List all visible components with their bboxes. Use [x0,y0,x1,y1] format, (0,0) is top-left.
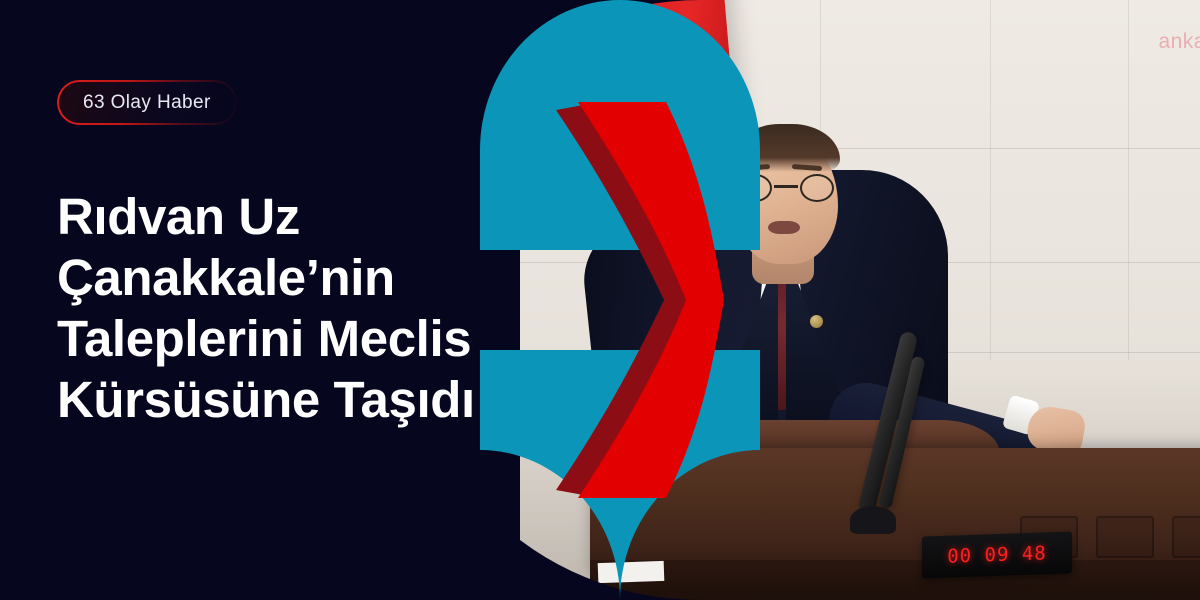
speaker-photo: 00 09 48 anka [520,0,1200,600]
page-title: Rıdvan Uz Çanakkale’nin Taleplerini Mecl… [57,186,487,430]
category-badge-label: 63 Olay Haber [83,92,211,114]
headline-line-2: Çanakkale’nin [57,247,487,308]
glasses-bridge [774,185,798,188]
wall-line [1128,0,1129,360]
headline-line-3: Taleplerini Meclis [57,308,487,369]
timer-value: 00 09 48 [947,542,1047,567]
category-badge[interactable]: 63 Olay Haber [57,80,237,125]
podium-panel [1096,516,1154,558]
news-banner-card: 00 09 48 anka 63 Olay Haber Rıdvan Uz Ça… [0,0,1200,600]
text-panel: 63 Olay Haber Rıdvan Uz Çanakkale’nin Ta… [0,0,520,600]
podium-papers [598,561,665,583]
photo-watermark: anka [1158,30,1200,54]
microphone-base [850,506,896,534]
wall-line [990,0,991,360]
photo-background: 00 09 48 [520,0,1200,600]
speaker-mouth [768,221,800,234]
headline-line-4: Kürsüsüne Taşıdı [57,369,487,430]
glasses-lens [800,174,834,202]
podium-timer-display: 00 09 48 [922,531,1072,578]
headline-line-1: Rıdvan Uz [57,186,487,247]
eyeglasses-icon [736,174,836,202]
podium-front [590,560,1200,600]
podium-panel [1172,516,1200,558]
lapel-pin [810,315,823,328]
glasses-lens [738,174,772,202]
